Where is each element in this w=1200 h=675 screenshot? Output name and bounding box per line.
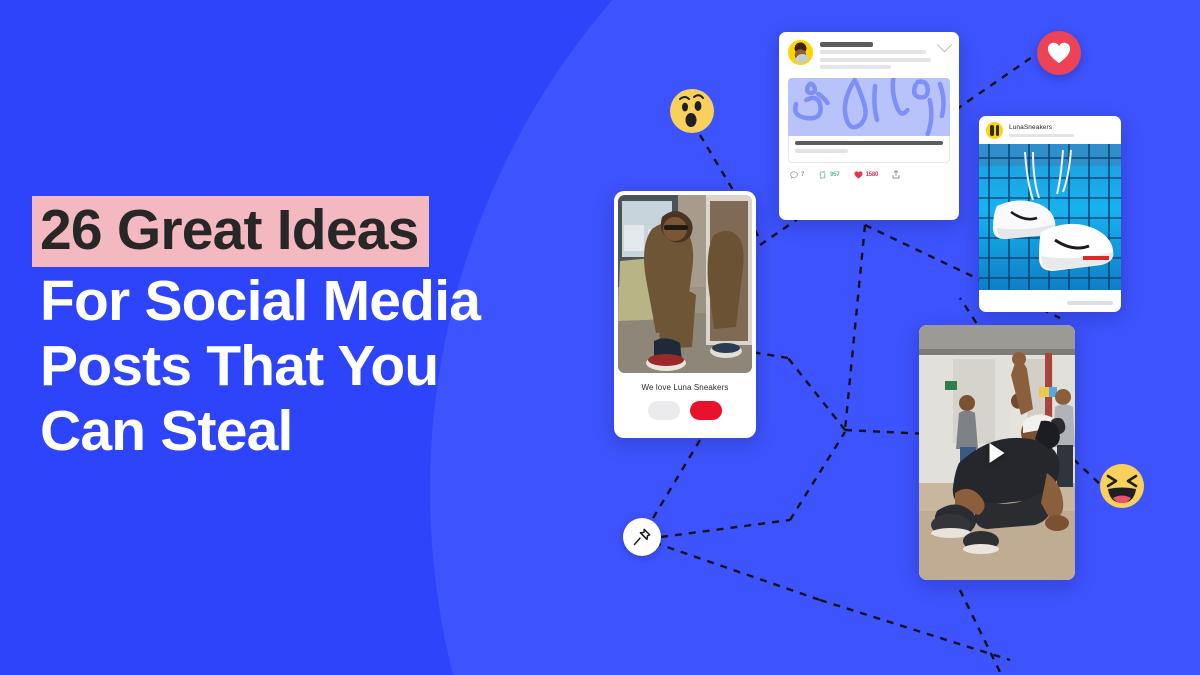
- heart-icon: [1047, 42, 1071, 64]
- laughing-emoji-icon: [1098, 462, 1146, 510]
- abstract-doodle-image: [788, 78, 950, 136]
- white-sneakers-on-blue-fence-photo: [979, 144, 1121, 290]
- like-count: 1580: [866, 172, 879, 178]
- twitter-post-card[interactable]: 7 957 1580: [779, 32, 959, 220]
- video-post-card[interactable]: [919, 325, 1075, 580]
- pin-badge[interactable]: [623, 518, 661, 556]
- poster-canvas: 26 Great Ideas For Social Media Posts Th…: [0, 0, 1200, 675]
- page-title: 26 Great Ideas For Social Media Posts Th…: [40, 196, 570, 464]
- heart-icon: [854, 171, 863, 179]
- pass-button[interactable]: [648, 401, 680, 420]
- retweet-stat[interactable]: 957: [818, 171, 839, 179]
- headline-line-2: For Social Media: [40, 269, 570, 334]
- heart-reaction-badge[interactable]: [1037, 31, 1081, 75]
- play-icon[interactable]: [990, 443, 1005, 463]
- retweet-icon: [818, 171, 827, 179]
- headline-line-1: 26 Great Ideas: [32, 196, 429, 267]
- instagram-post-card[interactable]: LunaSneakers: [979, 116, 1121, 312]
- person-in-brown-tracksuit-photo: [618, 195, 752, 373]
- dating-swipe-card[interactable]: We love Luna Sneakers: [614, 191, 756, 438]
- engagement-stats-row: 7 957 1580: [788, 170, 950, 179]
- retweet-count: 957: [830, 172, 839, 178]
- wow-emoji-badge[interactable]: [668, 87, 716, 135]
- brand-avatar-icon: [986, 122, 1003, 139]
- instagram-card-footer: [979, 290, 1121, 312]
- swipe-actions: [618, 401, 752, 420]
- headline-line-4: Can Steal: [40, 399, 570, 464]
- account-username: LunaSneakers: [1009, 124, 1114, 131]
- comment-icon: [790, 171, 798, 179]
- text-line-bar: [820, 65, 891, 69]
- user-avatar-icon: [788, 40, 813, 65]
- media-caption-placeholder: [788, 136, 950, 164]
- card-caption: We love Luna Sneakers: [618, 383, 752, 392]
- author-name-bar: [820, 42, 873, 47]
- author-placeholder-lines: [820, 40, 932, 73]
- breakdancer-in-studio-photo: [919, 325, 1075, 580]
- reply-count: 7: [801, 172, 804, 178]
- account-subtitle-bar: [1009, 134, 1074, 137]
- share-stat[interactable]: [892, 170, 900, 179]
- footer-placeholder-bar: [1067, 301, 1113, 305]
- like-button[interactable]: [690, 401, 722, 420]
- text-line-bar: [820, 50, 926, 54]
- headline-line-3: Posts That You: [40, 334, 570, 399]
- like-stat[interactable]: 1580: [854, 171, 879, 179]
- instagram-card-header: LunaSneakers: [979, 116, 1121, 144]
- pushpin-icon: [632, 527, 652, 547]
- laugh-emoji-badge[interactable]: [1098, 462, 1146, 510]
- caption-bar: [795, 141, 943, 146]
- text-line-bar: [820, 58, 931, 62]
- reply-stat[interactable]: 7: [790, 171, 804, 179]
- wow-emoji-icon: [668, 87, 716, 135]
- share-icon: [892, 170, 900, 179]
- caption-sub-bar: [795, 149, 848, 153]
- twitter-card-header: [788, 40, 950, 73]
- chevron-down-icon[interactable]: [937, 37, 953, 53]
